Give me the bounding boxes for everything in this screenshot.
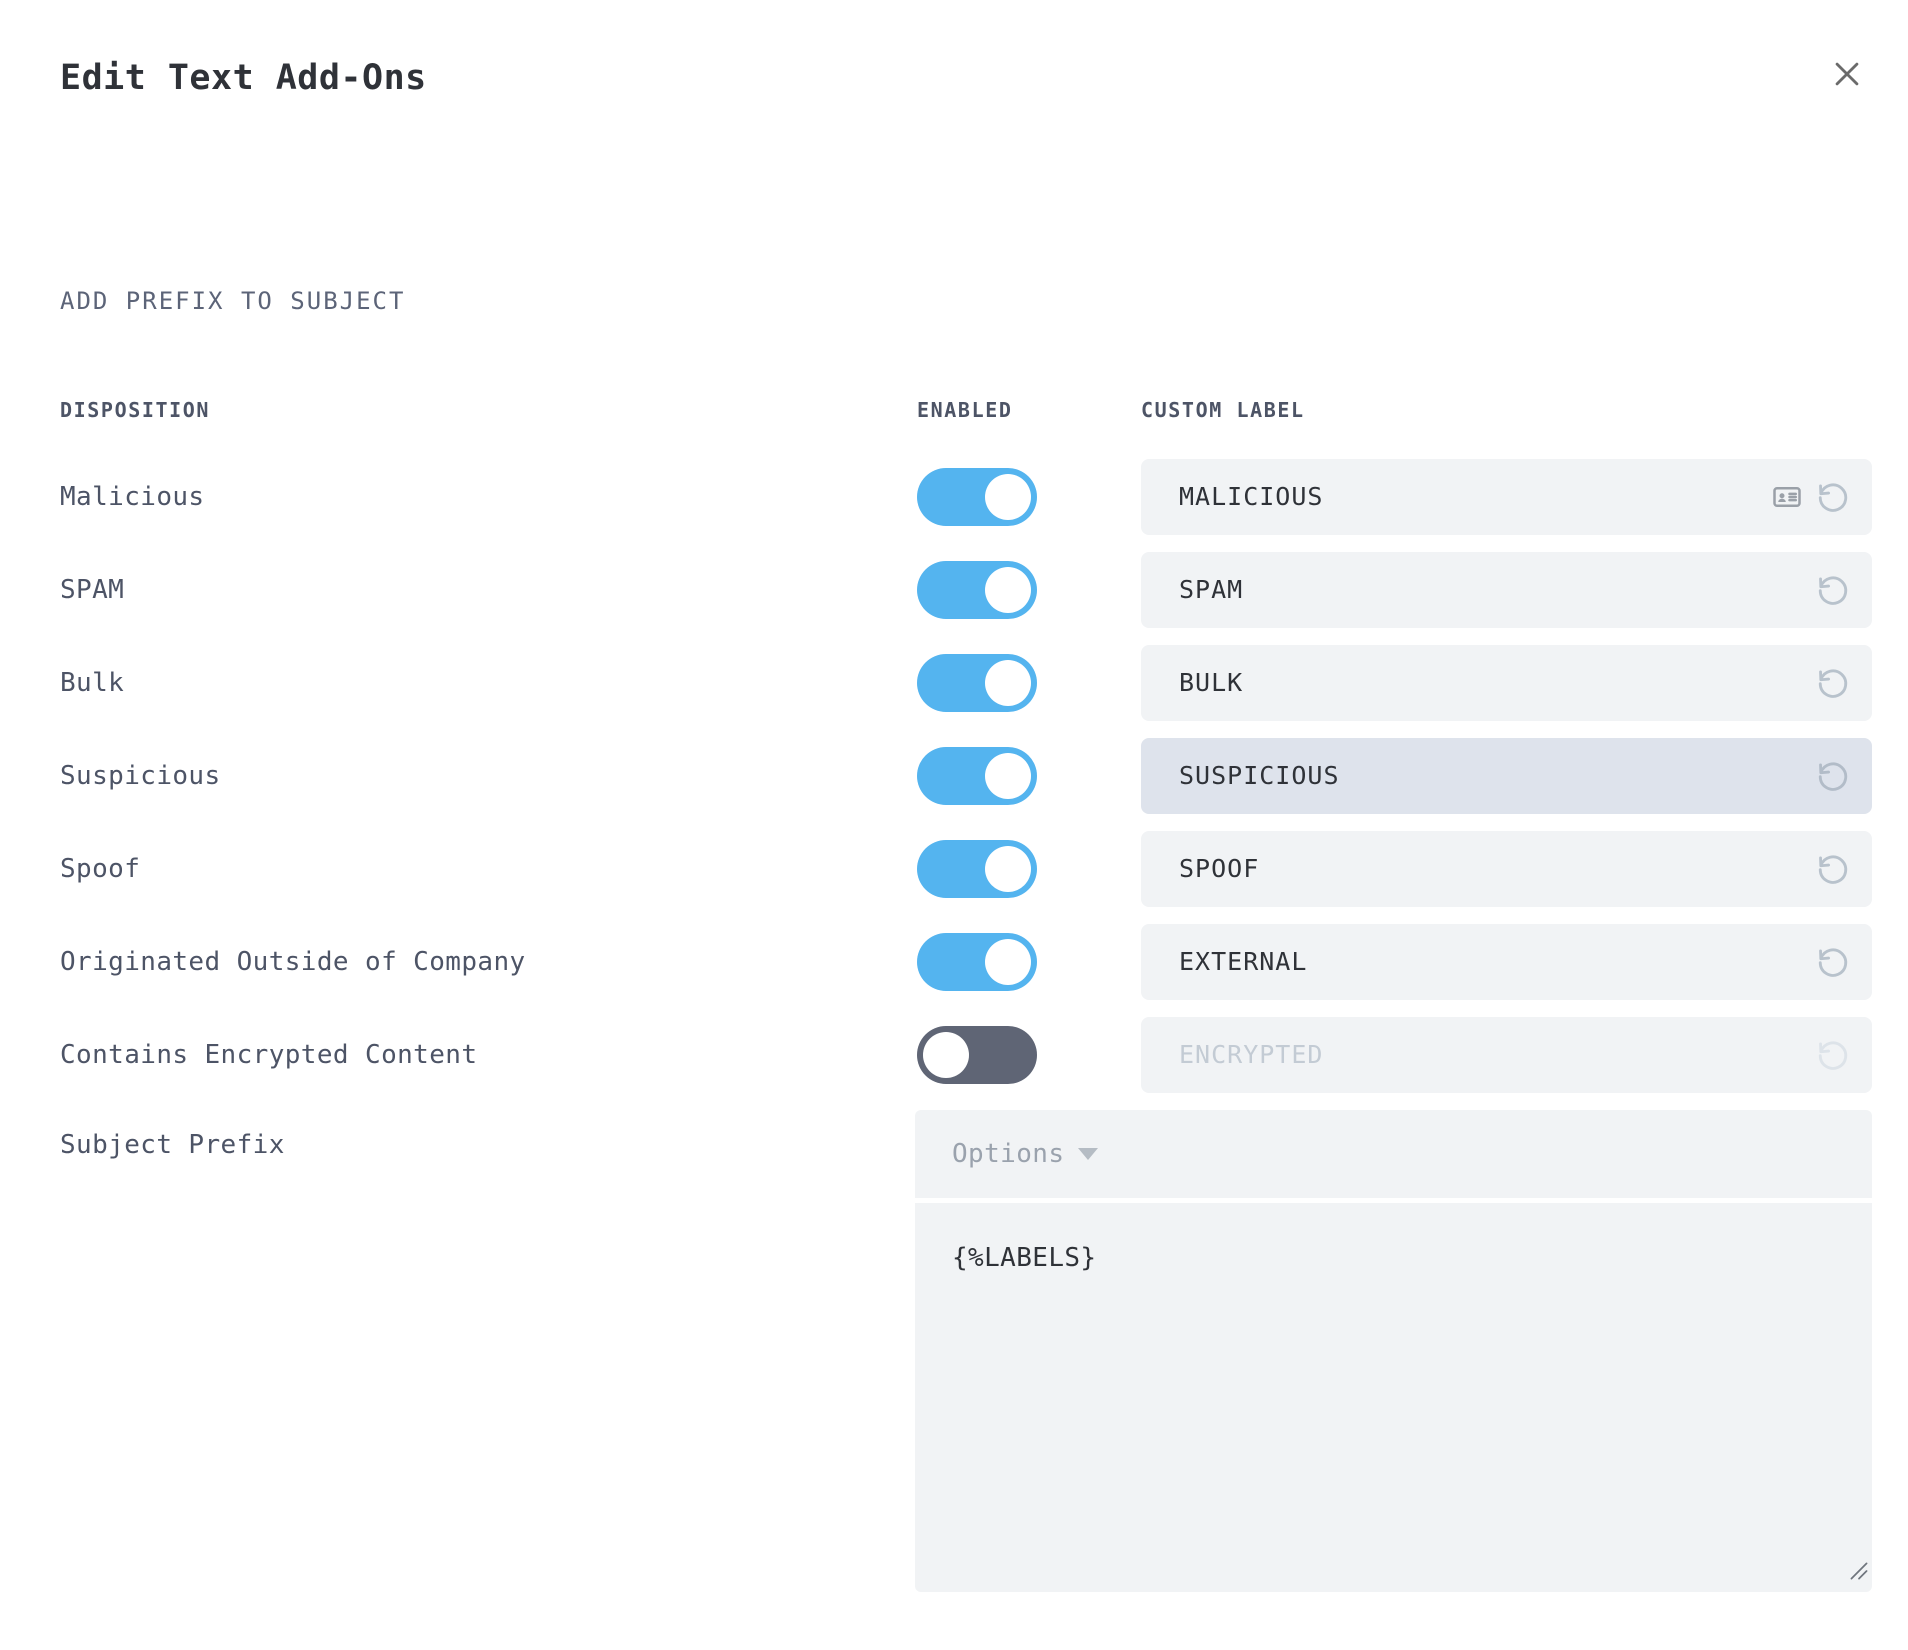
chevron-down-icon [1078,1148,1098,1160]
reset-icon [1816,1038,1850,1072]
disposition-label-bulk: Bulk [60,668,124,698]
custom-label-input-spoof[interactable] [1179,854,1816,883]
disposition-label-contains-encrypted-content: Contains Encrypted Content [60,1040,477,1070]
custom-label-field-spam[interactable] [1141,552,1872,628]
custom-label-field-suspicious[interactable] [1141,738,1872,814]
table-row: Bulk [0,636,1908,729]
toggle-enabled-suspicious[interactable] [917,747,1037,805]
table-row: Contains Encrypted Content [0,1008,1908,1101]
disposition-label-suspicious: Suspicious [60,761,221,791]
table-row: SPAM [0,543,1908,636]
table-row: Suspicious [0,729,1908,822]
toggle-enabled-spam[interactable] [917,561,1037,619]
toggle-enabled-originated-outside-of-company[interactable] [917,933,1037,991]
custom-label-input-bulk[interactable] [1179,668,1816,697]
custom-label-input-external[interactable] [1179,947,1816,976]
close-icon [1830,57,1864,91]
options-dropdown[interactable]: Options [915,1110,1872,1198]
field-icon-group [1816,945,1850,979]
table-header-row: DISPOSITION ENABLED CUSTOM LABEL [0,388,1908,450]
custom-label-input-malicious[interactable] [1179,482,1772,511]
toggle-knob [985,846,1031,892]
page-title: Edit Text Add-Ons [60,58,427,98]
toggle-enabled-spoof[interactable] [917,840,1037,898]
toggle-knob [985,660,1031,706]
custom-label-input-suspicious[interactable] [1179,761,1816,790]
custom-label-field-malicious[interactable] [1141,459,1872,535]
toggle-knob [985,567,1031,613]
field-icon-group [1816,1038,1850,1072]
toggle-knob [923,1032,969,1078]
contact-card-icon[interactable] [1772,482,1802,512]
column-header-enabled: ENABLED [917,398,1013,422]
field-icon-group [1772,480,1850,514]
reset-icon[interactable] [1816,573,1850,607]
close-button[interactable] [1816,43,1878,105]
reset-icon[interactable] [1816,759,1850,793]
dialog-header: Edit Text Add-Ons [0,0,1908,140]
reset-icon[interactable] [1816,480,1850,514]
disposition-label-malicious: Malicious [60,482,204,512]
custom-label-input-spam[interactable] [1179,575,1816,604]
disposition-label-originated-outside-of-company: Originated Outside of Company [60,947,526,977]
table-row: Spoof [0,822,1908,915]
reset-icon[interactable] [1816,945,1850,979]
resize-grip-icon [1846,1558,1872,1584]
field-icon-group [1816,759,1850,793]
section-label-add-prefix-to-subject: ADD PREFIX TO SUBJECT [60,287,405,315]
toggle-knob [985,753,1031,799]
custom-label-field-spoof[interactable] [1141,831,1872,907]
column-header-disposition: DISPOSITION [60,398,210,422]
table-row: Originated Outside of Company [0,915,1908,1008]
toggle-enabled-contains-encrypted-content[interactable] [917,1026,1037,1084]
custom-label-field-bulk[interactable] [1141,645,1872,721]
reset-icon[interactable] [1816,852,1850,886]
field-icon-group [1816,666,1850,700]
subject-prefix-label: Subject Prefix [60,1130,285,1160]
disposition-label-spam: SPAM [60,575,124,605]
custom-label-field-external[interactable] [1141,924,1872,1000]
toggle-knob [985,474,1031,520]
field-icon-group [1816,573,1850,607]
options-dropdown-label: Options [952,1139,1064,1169]
subject-prefix-textarea[interactable] [915,1203,1872,1592]
toggle-knob [985,939,1031,985]
edit-text-addons-dialog: Edit Text Add-Ons ADD PREFIX TO SUBJECT … [0,0,1908,1650]
reset-icon[interactable] [1816,666,1850,700]
custom-label-input-encrypted [1179,1040,1816,1069]
subject-prefix-row: Subject Prefix Options [0,1110,1908,1202]
field-icon-group [1816,852,1850,886]
toggle-enabled-malicious[interactable] [917,468,1037,526]
disposition-label-spoof: Spoof [60,854,140,884]
table-row: Malicious [0,450,1908,543]
column-header-custom-label: CUSTOM LABEL [1141,398,1305,422]
toggle-enabled-bulk[interactable] [917,654,1037,712]
custom-label-field-encrypted [1141,1017,1872,1093]
disposition-table: DISPOSITION ENABLED CUSTOM LABEL Malicio… [0,388,1908,1101]
